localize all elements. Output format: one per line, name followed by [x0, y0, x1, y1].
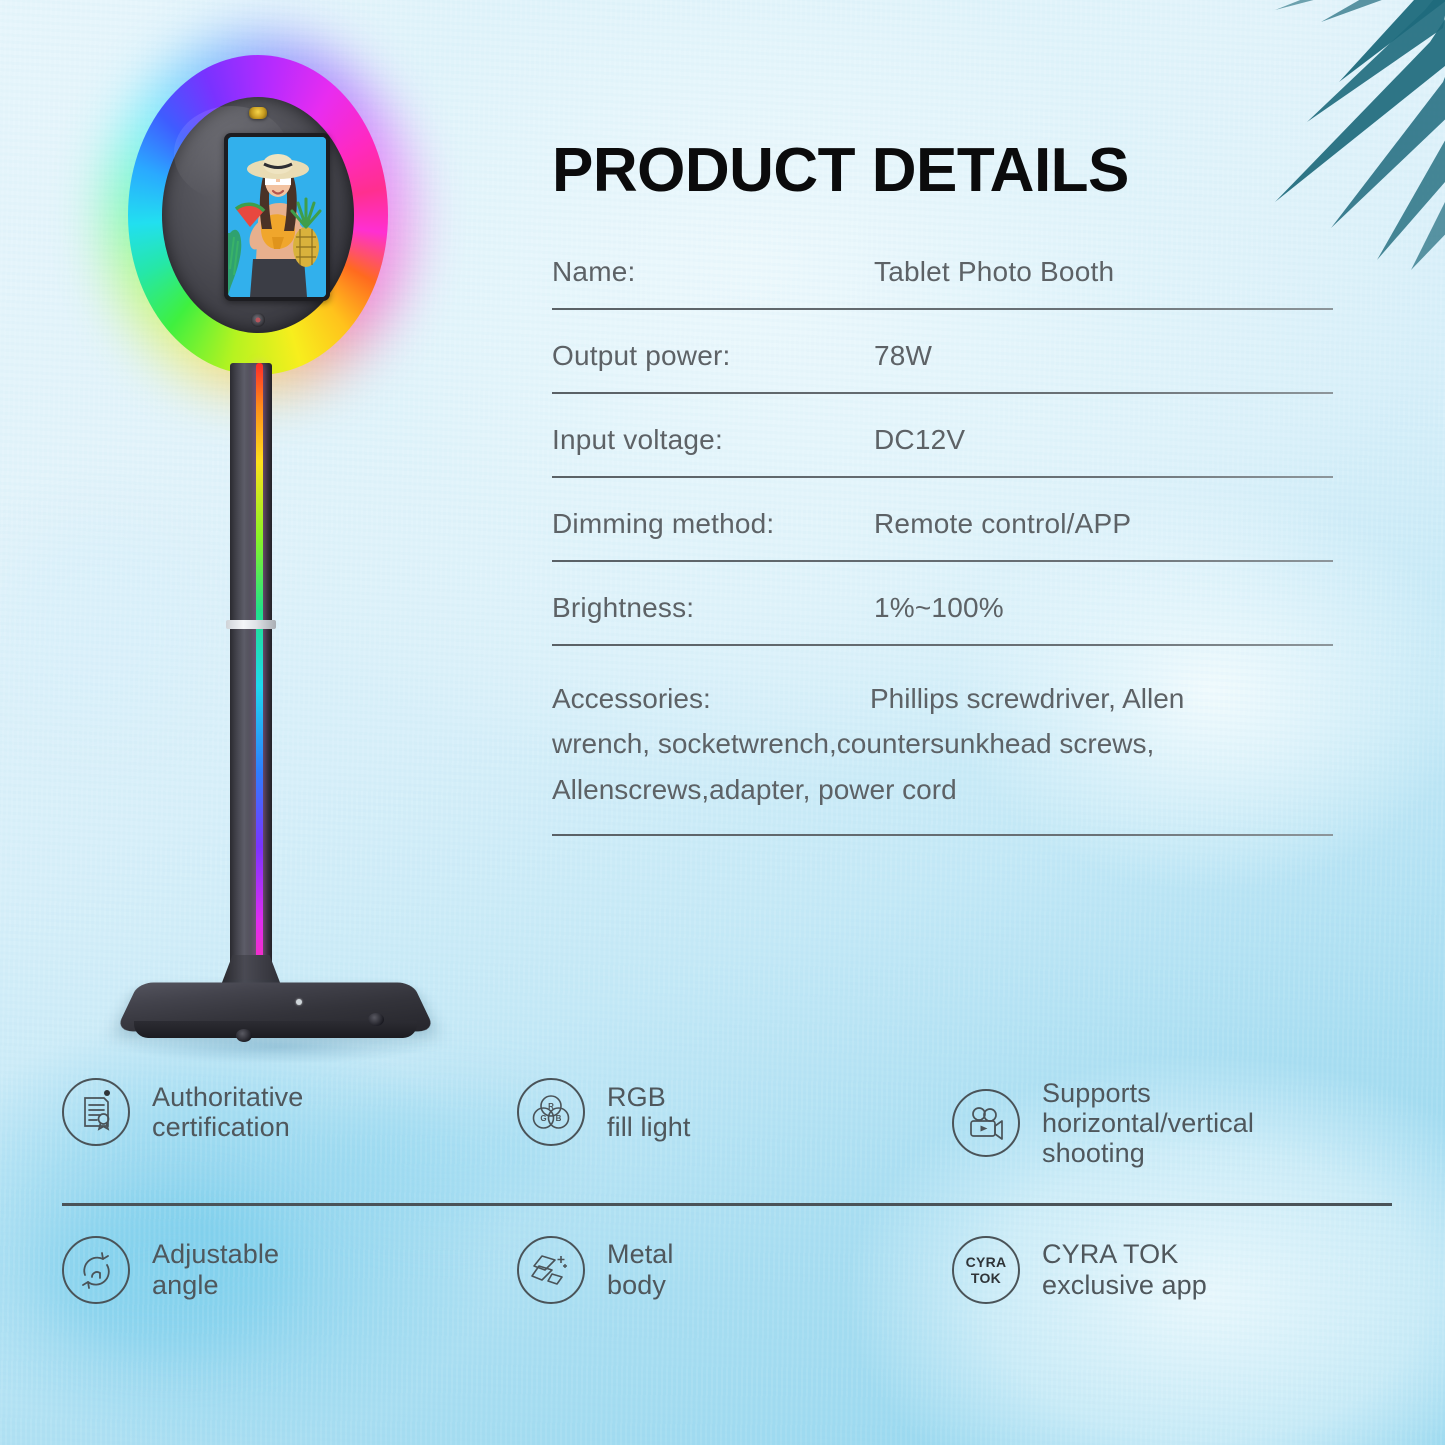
- feature-label-line-1: Authoritative: [152, 1082, 303, 1112]
- spec-divider: [552, 834, 1333, 836]
- feature-label-line-2: body: [607, 1270, 666, 1300]
- spec-label: Output power:: [552, 340, 874, 372]
- video-camera-icon: [952, 1089, 1020, 1157]
- spec-label: Name:: [552, 256, 874, 288]
- rgb-letter-b: B: [556, 1114, 562, 1123]
- cyra-tok-logo-icon: CYRA TOK: [952, 1236, 1020, 1304]
- feature-label-line-3: shooting: [1042, 1138, 1145, 1168]
- feature-label: Metal body: [607, 1239, 674, 1299]
- feature-label-line-2: fill light: [607, 1112, 691, 1142]
- feature-label-line-2: certification: [152, 1112, 290, 1142]
- metal-ingot-icon: [517, 1236, 585, 1304]
- page-title: PRODUCT DETAILS: [552, 140, 1338, 202]
- feature-label: Authoritative certification: [152, 1082, 303, 1142]
- certificate-icon: [62, 1078, 130, 1146]
- feature-metal-body: Metal body: [517, 1236, 952, 1304]
- power-button[interactable]: [251, 313, 265, 327]
- spec-value: Tablet Photo Booth: [874, 256, 1114, 288]
- spec-label: Dimming method:: [552, 508, 874, 540]
- spec-divider: [552, 392, 1333, 394]
- screen-photo: [228, 137, 326, 297]
- feature-label-line-2: exclusive app: [1042, 1270, 1207, 1300]
- feature-label-line-1: Supports: [1042, 1078, 1151, 1108]
- spec-row-name: Name: Tablet Photo Booth: [548, 256, 1338, 310]
- rotate-angle-icon: [62, 1236, 130, 1304]
- spec-divider: [552, 476, 1333, 478]
- spec-label: Input voltage:: [552, 424, 874, 456]
- stand-pole: [230, 363, 272, 983]
- feature-authoritative-certification: Authoritative certification: [62, 1078, 517, 1146]
- caster-wheel-right: [368, 1013, 384, 1026]
- feature-row-2: Adjustable angle Metal body: [62, 1236, 1392, 1304]
- tablet-screen: [228, 137, 326, 297]
- feature-label: Supports horizontal/vertical shooting: [1042, 1078, 1254, 1169]
- feature-adjustable-angle: Adjustable angle: [62, 1236, 517, 1304]
- spec-row-input-voltage: Input voltage: DC12V: [548, 424, 1338, 478]
- spec-value: 78W: [874, 340, 932, 372]
- feature-label-line-1: RGB: [607, 1082, 666, 1112]
- ring-light-head: [128, 55, 388, 375]
- accessories-line-2: wrench, socketwrench,countersunkhead scr…: [552, 728, 1154, 759]
- accessories-line-1: Phillips screwdriver, Allen: [870, 683, 1184, 714]
- feature-label: RGB fill light: [607, 1082, 691, 1142]
- caster-wheel-left: [236, 1029, 252, 1042]
- feature-row-1: Authoritative certification R G B: [62, 1078, 1392, 1169]
- spec-value: Remote control/APP: [874, 508, 1131, 540]
- feature-rgb-fill-light: R G B RGB fill light: [517, 1078, 952, 1146]
- spec-divider: [552, 560, 1333, 562]
- feature-label: CYRA TOK exclusive app: [1042, 1239, 1207, 1299]
- spec-value: DC12V: [874, 424, 965, 456]
- feature-label-line-2: angle: [152, 1270, 219, 1300]
- rgb-letter-r: R: [548, 1102, 554, 1111]
- product-image: [118, 55, 448, 1015]
- spec-label: Accessories:: [552, 676, 870, 721]
- accessories-line-3: Allenscrews,adapter, power cord: [552, 774, 957, 805]
- tablet-device: [224, 133, 330, 301]
- product-details-panel: PRODUCT DETAILS Name: Tablet Photo Booth…: [548, 140, 1338, 836]
- feature-label-line-1: CYRA TOK: [1042, 1239, 1178, 1269]
- spec-value: 1%~100%: [874, 592, 1004, 624]
- product-detail-page: PRODUCT DETAILS Name: Tablet Photo Booth…: [0, 0, 1445, 1445]
- pole-led-strip: [256, 363, 263, 983]
- feature-highlights: Authoritative certification R G B: [62, 1078, 1392, 1304]
- spec-divider: [552, 308, 1333, 310]
- spec-row-dimming-method: Dimming method: Remote control/APP: [548, 508, 1338, 562]
- spec-divider: [552, 644, 1333, 646]
- feature-label-line-1: Metal: [607, 1239, 674, 1269]
- spec-row-accessories: Accessories:Phillips screwdriver, Allen …: [548, 676, 1338, 836]
- feature-label-line-2: horizontal/vertical: [1042, 1108, 1254, 1138]
- base-indicator-dot: [296, 999, 302, 1005]
- feature-cyra-tok-app: CYRA TOK CYRA TOK exclusive app: [952, 1236, 1207, 1304]
- spec-row-output-power: Output power: 78W: [548, 340, 1338, 394]
- pole-adjust-collar[interactable]: [226, 620, 276, 629]
- rgb-venn-icon: R G B: [517, 1078, 585, 1146]
- camera-lens: [249, 107, 267, 119]
- brand-logo-dot: [104, 1090, 110, 1096]
- brand-logo-line-1: CYRA: [966, 1255, 1007, 1269]
- feature-section-divider: [62, 1203, 1392, 1206]
- spec-row-brightness: Brightness: 1%~100%: [548, 592, 1338, 646]
- feature-horizontal-vertical-shooting: Supports horizontal/vertical shooting: [952, 1078, 1254, 1169]
- spec-label: Brightness:: [552, 592, 874, 624]
- feature-label-line-1: Adjustable: [152, 1239, 279, 1269]
- feature-label: Adjustable angle: [152, 1239, 279, 1299]
- rgb-letter-g: G: [540, 1114, 546, 1123]
- brand-logo-line-2: TOK: [971, 1271, 1001, 1285]
